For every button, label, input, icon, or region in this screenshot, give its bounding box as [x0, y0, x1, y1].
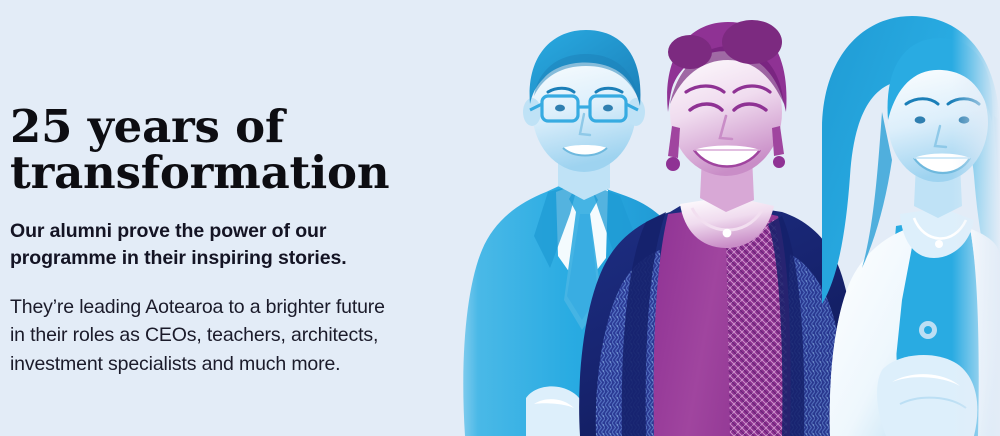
body-paragraph: They’re leading Aotearoa to a brighter f…	[10, 293, 402, 378]
page-title: 25 years of transformation	[10, 104, 420, 196]
headline-line-2: transformation	[10, 150, 420, 196]
alumni-photo-duotone	[430, 0, 1000, 436]
subheadline: Our alumni prove the power of our progra…	[10, 218, 402, 273]
promo-banner: 25 years of transformation Our alumni pr…	[0, 0, 1000, 436]
headline-line-1: 25 years of	[10, 104, 420, 150]
copy-block: 25 years of transformation Our alumni pr…	[10, 104, 420, 378]
